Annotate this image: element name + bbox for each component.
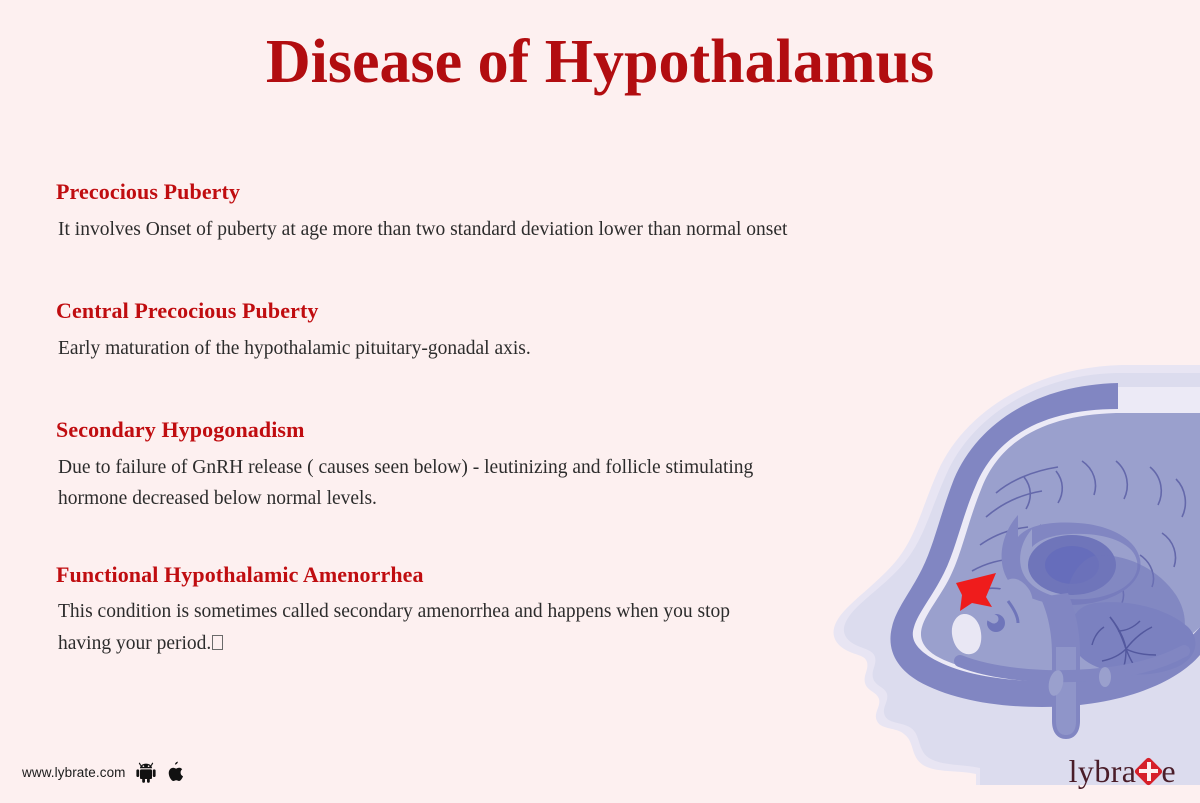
thalamus bbox=[1028, 535, 1116, 595]
section-heading: Central Precocious Puberty bbox=[56, 297, 856, 325]
nuclei-dots bbox=[1046, 667, 1111, 697]
infographic-page: Disease of Hypothalamus Precocious Puber… bbox=[0, 0, 1200, 803]
dura-band bbox=[890, 383, 1200, 707]
brain-illustration bbox=[810, 365, 1200, 785]
arbor-vitae bbox=[1092, 617, 1156, 673]
pituitary-gland bbox=[987, 579, 1033, 632]
brain-stem bbox=[1040, 593, 1080, 739]
logo-text-after: e bbox=[1161, 755, 1176, 787]
section-body-wrap: This condition is sometimes called secon… bbox=[58, 596, 748, 659]
missing-glyph-box bbox=[212, 635, 223, 650]
android-icon[interactable] bbox=[136, 761, 156, 783]
lybrate-logo[interactable]: lybra e bbox=[1069, 755, 1176, 787]
apple-icon[interactable] bbox=[166, 761, 185, 783]
website-url[interactable]: www.lybrate.com bbox=[22, 765, 126, 780]
page-title: Disease of Hypothalamus bbox=[0, 28, 1200, 96]
diamond-cross-icon bbox=[1135, 758, 1162, 785]
corpus-callosum bbox=[1002, 515, 1141, 605]
gyri-sulci-lines bbox=[962, 461, 1185, 603]
section-body: It involves Onset of puberty at age more… bbox=[58, 214, 818, 246]
cerebrum bbox=[921, 413, 1200, 677]
temporal-band bbox=[960, 651, 1184, 676]
pons bbox=[1009, 629, 1042, 677]
section-body: Early maturation of the hypothalamic pit… bbox=[58, 333, 818, 365]
head-silhouette bbox=[844, 373, 1200, 785]
section-secondary-hypogonadism: Secondary Hypogonadism Due to failure of… bbox=[56, 416, 856, 515]
section-heading: Secondary Hypogonadism bbox=[56, 416, 856, 444]
section-body: Due to failure of GnRH release ( causes … bbox=[58, 452, 778, 515]
hypothalamus-marker-arrow bbox=[956, 573, 996, 611]
footer-left: www.lybrate.com bbox=[22, 761, 185, 783]
section-precocious-puberty: Precocious Puberty It involves Onset of … bbox=[56, 178, 856, 245]
section-central-precocious-puberty: Central Precocious Puberty Early maturat… bbox=[56, 297, 856, 364]
midbrain-overlay bbox=[1066, 555, 1185, 661]
section-functional-hypothalamic-amenorrhea: Functional Hypothalamic Amenorrhea This … bbox=[56, 561, 856, 660]
head-glow bbox=[834, 365, 1200, 785]
section-body: This condition is sometimes called secon… bbox=[58, 601, 730, 654]
cranial-cavity bbox=[901, 387, 1200, 695]
logo-text-before: lybra bbox=[1069, 755, 1137, 787]
section-heading: Precocious Puberty bbox=[56, 178, 856, 206]
optic-structures bbox=[940, 607, 994, 654]
cerebellum bbox=[1070, 602, 1195, 674]
sections-list: Precocious Puberty It involves Onset of … bbox=[56, 178, 856, 659]
section-heading: Functional Hypothalamic Amenorrhea bbox=[56, 561, 856, 589]
